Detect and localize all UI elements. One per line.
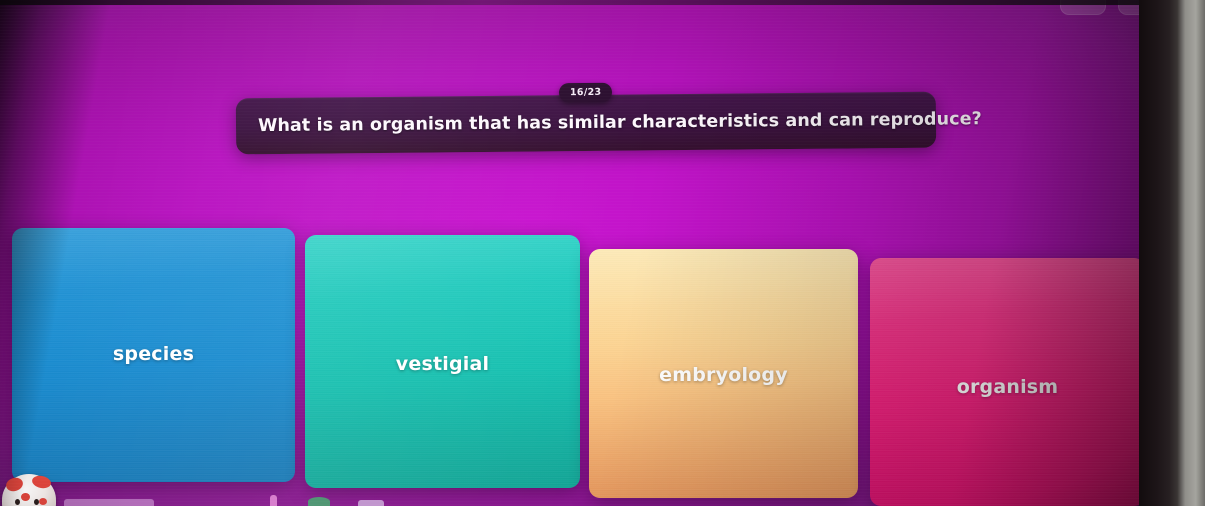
answer-tile-organism[interactable]: organism bbox=[870, 258, 1145, 506]
avatar-eye-icon bbox=[15, 499, 20, 505]
bottom-bar-icon bbox=[358, 500, 384, 506]
bottom-cutoff-strip bbox=[0, 494, 1148, 506]
avatar-eye-icon bbox=[34, 499, 39, 505]
answer-label-organism: organism bbox=[957, 376, 1059, 398]
answer-tile-species[interactable]: species bbox=[12, 228, 295, 482]
bottom-avatar-icon bbox=[308, 497, 330, 506]
answer-label-vestigial: vestigial bbox=[396, 353, 489, 375]
avatar-spot-icon bbox=[21, 493, 30, 501]
question-counter-badge: 16/23 bbox=[559, 83, 613, 103]
question-text: What is an organism that has similar cha… bbox=[258, 110, 914, 138]
avatar-spot-icon bbox=[39, 498, 47, 505]
question-panel: 16/23 What is an organism that has simil… bbox=[236, 92, 937, 155]
bottom-marker-icon bbox=[270, 495, 277, 506]
answer-label-embryology: embryology bbox=[659, 364, 788, 386]
monitor-bezel-top bbox=[0, 0, 1205, 5]
answer-label-species: species bbox=[113, 343, 194, 365]
player-avatar[interactable] bbox=[2, 474, 56, 506]
answer-tile-vestigial[interactable]: vestigial bbox=[305, 235, 580, 488]
bottom-nametag bbox=[64, 499, 154, 506]
monitor-bezel-right bbox=[1139, 0, 1205, 506]
screenshot-root: 16/23 What is an organism that has simil… bbox=[0, 0, 1205, 506]
monitor-screen: 16/23 What is an organism that has simil… bbox=[0, 0, 1148, 506]
answer-tile-embryology[interactable]: embryology bbox=[589, 249, 858, 498]
answer-tile-grid: species vestigial embryology organism bbox=[0, 0, 1148, 506]
